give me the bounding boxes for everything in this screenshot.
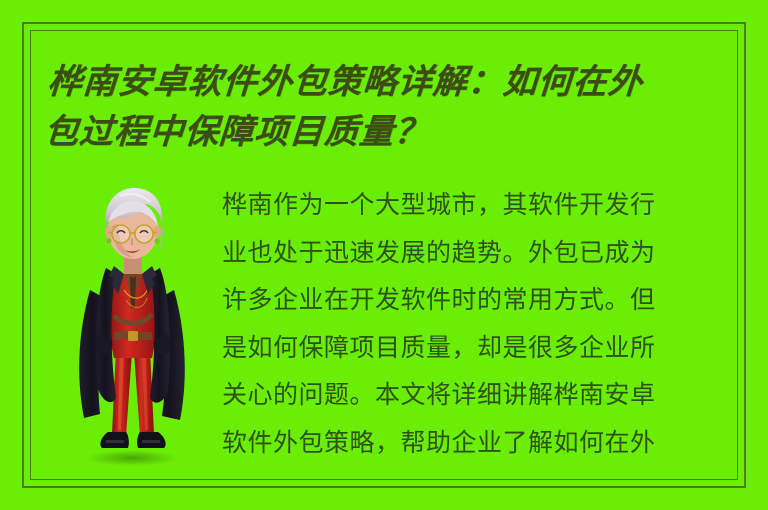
earring-right [154, 238, 159, 243]
body-line: 软件外包策略，帮助企业了解如何在外 [222, 419, 738, 467]
body-line: 是如何保障项目质量，却是很多企业所 [222, 324, 738, 372]
shoe-highlight-left [106, 440, 124, 443]
page-title: 桦南安卓软件外包策略详解：如何在外 包过程中保障项目质量？ [43, 57, 740, 157]
article-banner: 桦南安卓软件外包策略详解：如何在外 包过程中保障项目质量？ [0, 0, 768, 510]
shoe-highlight-right [142, 440, 160, 443]
earring-left [106, 238, 111, 243]
body-line: 许多企业在开发软件时的常用方式。但 [222, 276, 738, 324]
ground-shadow [86, 450, 178, 466]
body-line: 桦南作为一个大型城市，其软件开发行 [222, 181, 738, 229]
necktie [130, 276, 136, 308]
character-illustration [62, 182, 202, 466]
glasses-left-lens [112, 225, 130, 243]
article-body: 桦南作为一个大型城市，其软件开发行 业也处于迅速发展的趋势。外包已成为 许多企业… [222, 181, 738, 466]
body-line: 业也处于迅速发展的趋势。外包已成为 [222, 229, 738, 277]
glasses-right-lens [135, 225, 153, 243]
belt-buckle [128, 331, 138, 341]
body-line: 关心的问题。本文将详细讲解桦南安卓 [222, 371, 738, 419]
